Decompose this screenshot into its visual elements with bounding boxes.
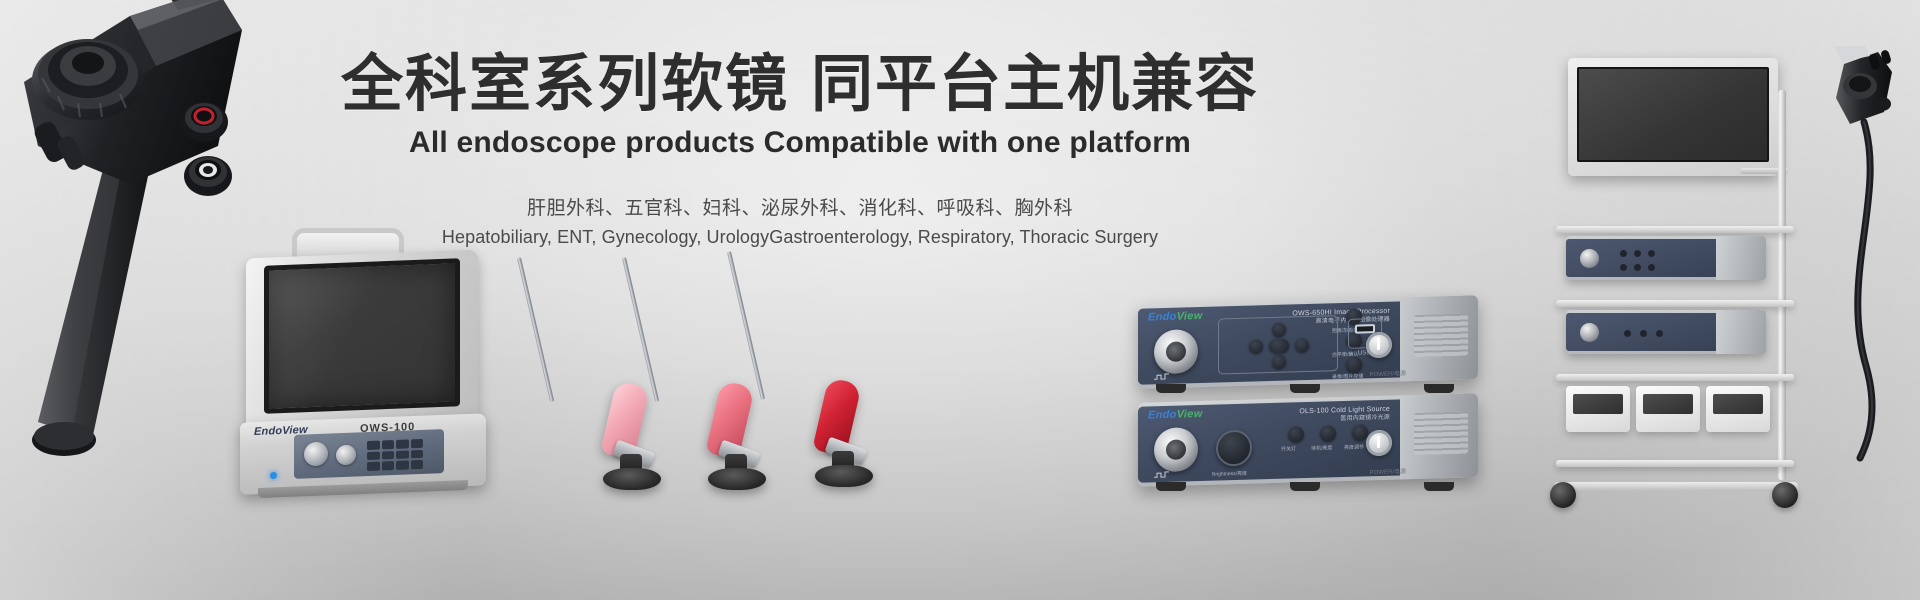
specialties-cn: 肝胆外科、五官科、妇科、泌尿外科、消化科、呼吸科、胸外科 [300, 193, 1300, 220]
cart-rack-unit-1 [1566, 236, 1766, 280]
cart-rack-button-h[interactable] [1640, 330, 1647, 337]
cart-shelf-3 [1556, 374, 1794, 381]
processor-side-panel [1400, 295, 1478, 381]
brightness-dial-label: Brightness/亮度 [1212, 470, 1247, 478]
cart-base [1554, 482, 1798, 491]
cart-rack-button-d[interactable] [1620, 264, 1627, 271]
cart-rack-unit-2 [1566, 310, 1766, 354]
cart-rack-side-2 [1716, 310, 1766, 354]
endoscopy-trolley-cart [1540, 30, 1900, 575]
cart-rack-button-f[interactable] [1648, 264, 1655, 271]
function-label-3: 录像/图片存储 [1332, 372, 1363, 380]
rigid-scope-red [720, 252, 870, 488]
light-source-power-label: POWER/电源 [1370, 466, 1406, 476]
rigid-scope-shaft [622, 257, 659, 402]
light-source-side-panel [1400, 393, 1478, 479]
rigid-scope-shaft [727, 251, 765, 400]
processor-feet [1156, 384, 1456, 393]
product-banner: 全科室系列软镜同平台主机兼容 All endoscope products Co… [0, 0, 1920, 600]
cart-vertical-pole [1778, 90, 1786, 480]
cart-shelf-1 [1556, 226, 1794, 233]
cart-rack-button-i[interactable] [1656, 330, 1663, 337]
banner-text-block: 全科室系列软镜同平台主机兼容 All endoscope products Co… [300, 52, 1300, 248]
processor-dpad[interactable] [1218, 315, 1338, 374]
dpad-right-button[interactable] [1295, 338, 1309, 352]
light-source-vents [1414, 412, 1468, 456]
image-processor-unit: EndoView OWS-650HI Image Processor 高清电子内… [1138, 295, 1478, 388]
cart-rack-button-g[interactable] [1624, 330, 1631, 337]
cart-caster-right [1772, 482, 1798, 508]
cart-rack-button-b[interactable] [1634, 250, 1641, 257]
cart-flexible-endoscope [1826, 46, 1900, 466]
light-control-label-1: 开关灯 [1281, 445, 1296, 452]
cart-accessory-box-2 [1636, 386, 1700, 432]
usb-icon[interactable] [1355, 324, 1375, 334]
processor-power-label: POWER/电源 [1370, 368, 1406, 378]
cart-rack-button-e[interactable] [1634, 264, 1641, 271]
cart-rack-side-1 [1716, 236, 1766, 280]
cart-monitor [1568, 58, 1778, 176]
light-source-waveform-icon [1154, 471, 1170, 478]
dpad-up-button[interactable] [1272, 323, 1286, 337]
cart-caster-left [1550, 482, 1576, 508]
cart-rack-button-c[interactable] [1648, 250, 1655, 257]
processor-light-source-stack: EndoView OWS-650HI Image Processor 高清电子内… [1138, 300, 1498, 500]
light-control-label-3: 亮度调节 [1344, 443, 1364, 451]
monitor-workstation-ows-100: EndoView OWS-100 [232, 232, 497, 497]
monitor-model-label: OWS-100 [360, 421, 415, 435]
light-source-model-title: OLS-100 Cold Light Source 医用内窥镜冷光源 [1260, 405, 1390, 426]
light-source-feet [1156, 482, 1456, 491]
cart-accessory-box-1 [1566, 386, 1630, 432]
light-control-label-2: 待机/亮度 [1311, 444, 1332, 452]
monitor-keypad[interactable] [367, 439, 423, 471]
headline-cn-part2: 同平台主机兼容 [811, 50, 1259, 119]
dpad-menu-button[interactable] [1269, 339, 1289, 354]
monitor-screen [264, 258, 460, 414]
monitor-brand-label: EndoView [254, 424, 308, 438]
cart-rack-knob-1[interactable] [1580, 249, 1599, 268]
rigid-scope-stand [815, 465, 873, 487]
dpad-left-button[interactable] [1249, 339, 1263, 353]
cart-shelf-4 [1556, 460, 1794, 467]
cold-light-source-unit: EndoView OLS-100 Cold Light Source 医用内窥镜… [1138, 393, 1478, 486]
cart-rack-knob-2[interactable] [1580, 323, 1599, 342]
specialties-en: Hepatobiliary, ENT, Gynecology, UrologyG… [300, 227, 1300, 248]
cart-monitor-screen [1577, 67, 1769, 162]
page-headline: 全科室系列软镜同平台主机兼容 [300, 52, 1300, 118]
light-source-brand-label: EndoView [1148, 408, 1203, 422]
headline-cn-part1: 全科室系列软镜 [341, 50, 789, 119]
processor-vents [1414, 314, 1468, 358]
rigid-scope-shaft [517, 257, 554, 402]
cart-rack-button-a[interactable] [1620, 250, 1627, 257]
cart-shelf-2 [1556, 300, 1794, 307]
page-subheadline: All endoscope products Compatible with o… [300, 126, 1300, 160]
processor-brand-label: EndoView [1148, 310, 1203, 324]
cart-accessory-box-3 [1706, 386, 1770, 432]
processor-waveform-icon [1154, 373, 1170, 380]
dpad-down-button[interactable] [1272, 355, 1286, 369]
